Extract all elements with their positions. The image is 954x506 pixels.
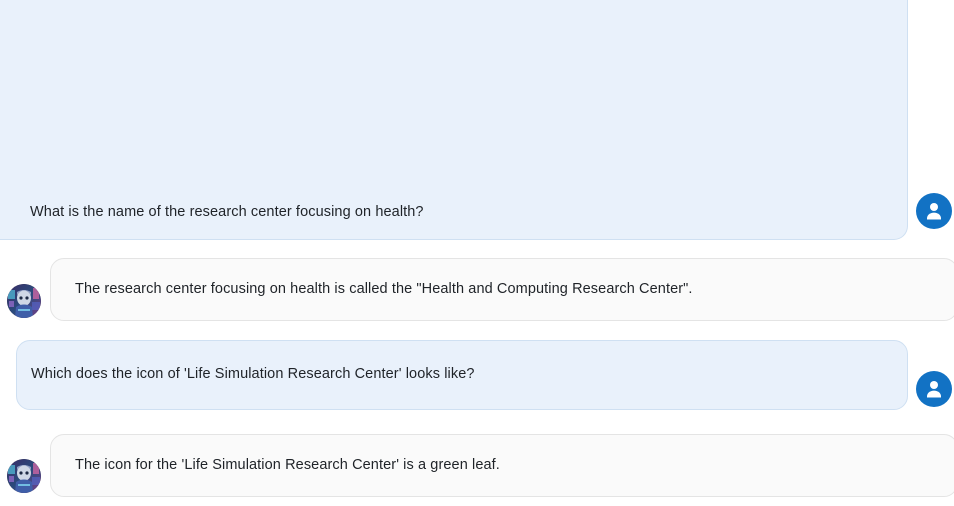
chat-transcript: Health and Bio Computing Research Center…	[0, 0, 954, 506]
assistant-message-text-1: The research center focusing on health i…	[75, 279, 693, 300]
user-message-text-1: What is the name of the research center …	[30, 202, 889, 223]
user-message-text-2: Which does the icon of 'Life Simulation …	[31, 364, 475, 385]
assistant-avatar-image	[7, 459, 41, 493]
assistant-message-text-2: The icon for the 'Life Simulation Resear…	[75, 455, 500, 476]
user-message-bubble-2: Which does the icon of 'Life Simulation …	[16, 340, 908, 410]
assistant-message-bubble-1: The research center focusing on health i…	[50, 258, 954, 321]
user-avatar-icon	[916, 371, 952, 407]
assistant-message-bubble-2: The icon for the 'Life Simulation Resear…	[50, 434, 954, 497]
user-avatar-icon	[916, 193, 952, 229]
user-message-bubble-1: Health and Bio Computing Research Center…	[0, 0, 908, 240]
assistant-avatar-image	[7, 284, 41, 318]
